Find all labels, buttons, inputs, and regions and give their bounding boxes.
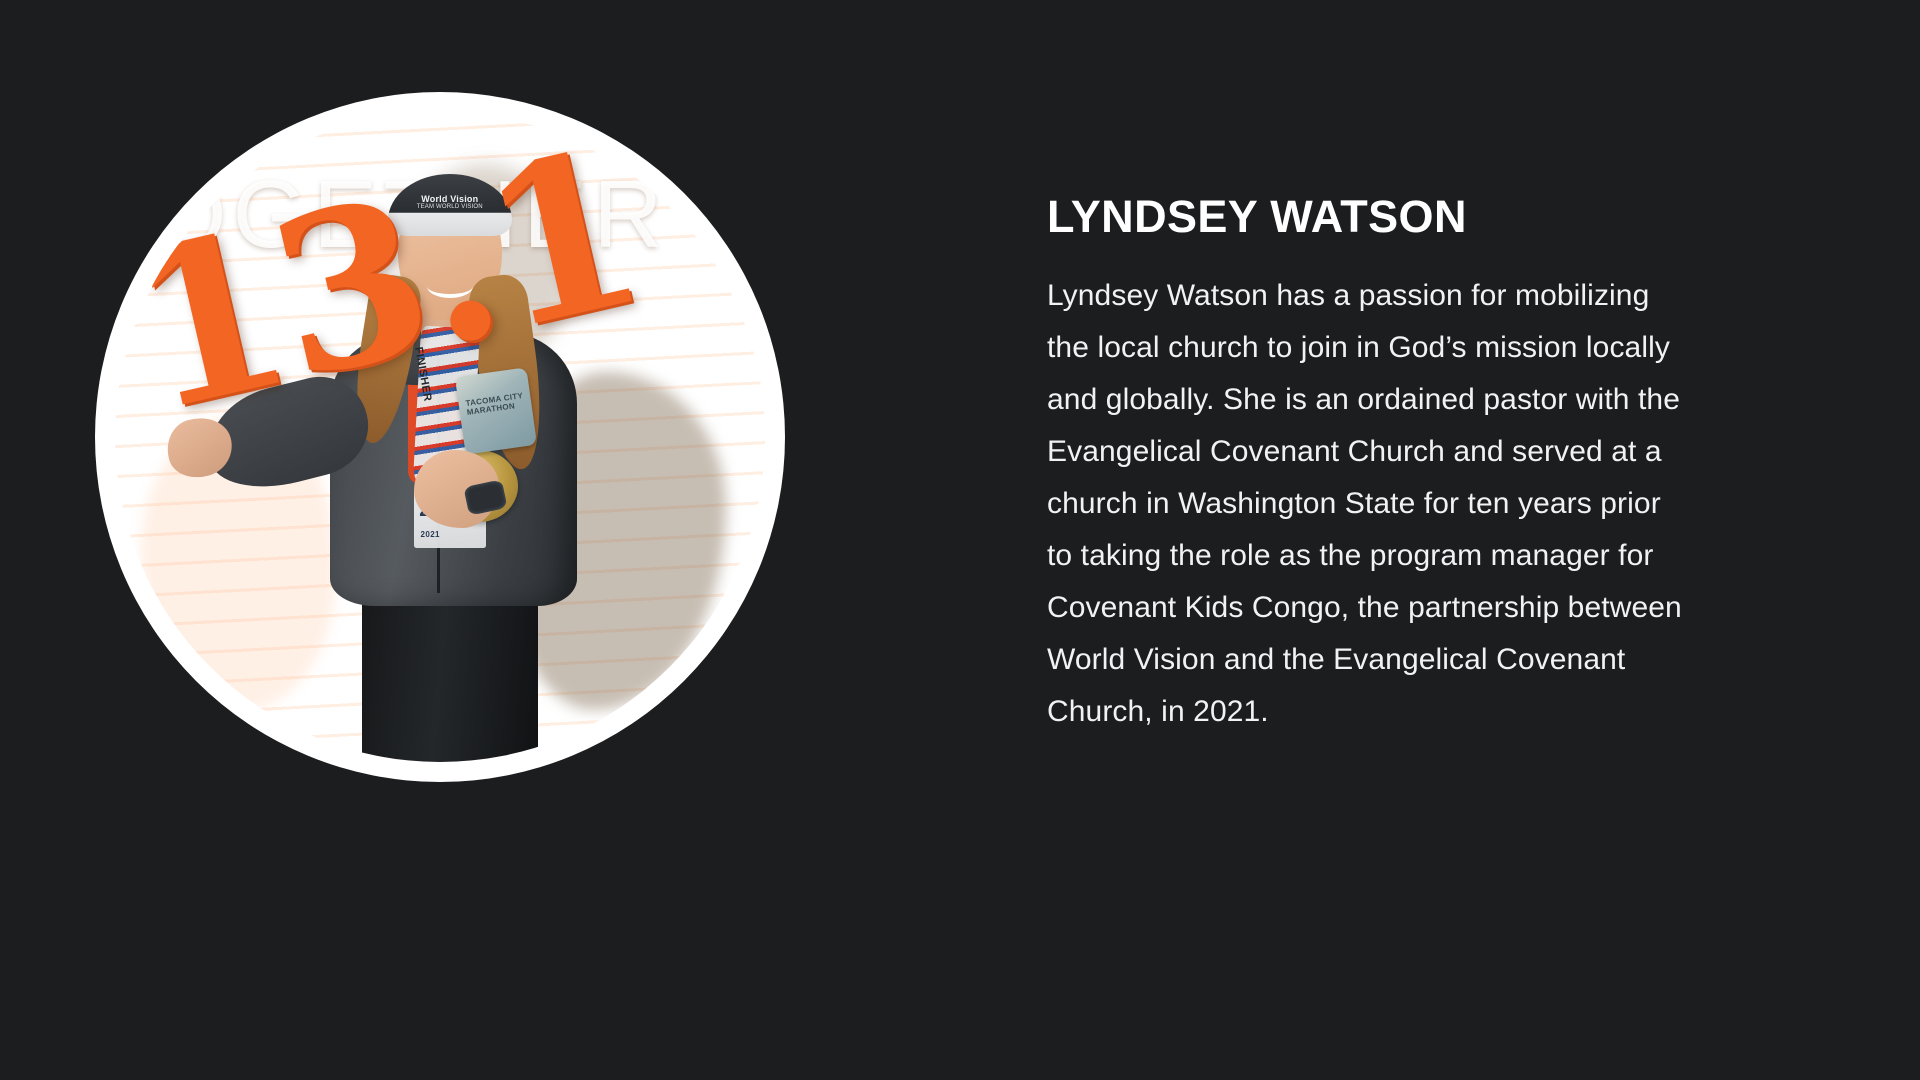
bio-text-column: LYNDSEY WATSON Lyndsey Watson has a pass…	[1047, 192, 1687, 738]
portrait-photo-frame: TOGETHER World Vision TEAM WORLD VISION	[95, 92, 785, 782]
person-bio-paragraph: Lyndsey Watson has a passion for mobiliz…	[1047, 270, 1687, 738]
race-bib-subtext: 2021	[421, 530, 440, 539]
person-name-heading: LYNDSEY WATSON	[1047, 192, 1687, 242]
slide-canvas: TOGETHER World Vision TEAM WORLD VISION	[0, 0, 1920, 1080]
portrait-photo: TOGETHER World Vision TEAM WORLD VISION	[115, 112, 765, 762]
